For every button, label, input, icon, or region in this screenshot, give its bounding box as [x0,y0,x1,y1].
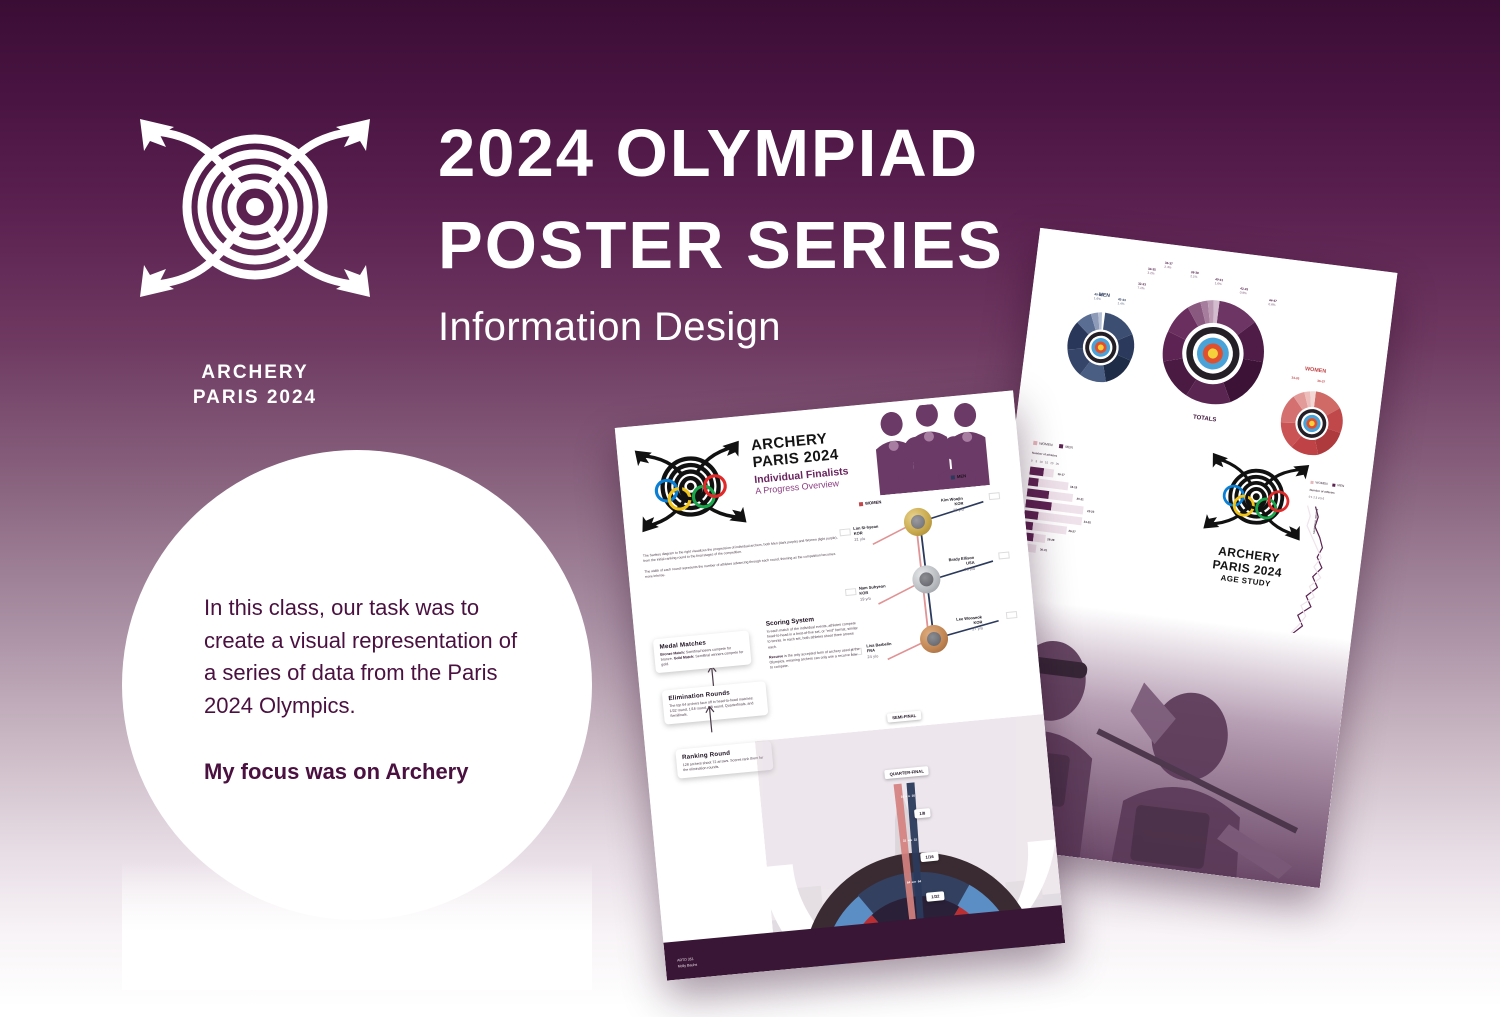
brand-wordmark: ARCHERY PARIS 2024 [130,360,380,410]
callout-medal-matches[interactable]: Medal Matches Bronze Match: Semifinal lo… [653,630,752,673]
donut-totals-leader-1: 36-372.4% [1164,262,1173,271]
donut-totals-leader-6: 34-353.2% [1147,268,1156,277]
round-chip-eighth[interactable]: 1/8 [914,808,931,818]
finalist-lee-wooseok: Lee Wooseok KOR 27 y/o [956,614,983,633]
legend-swatch-men-line [1332,483,1335,486]
podium-athletes-photo [864,397,1011,496]
line-axis-title: Number of athletes [1309,488,1335,495]
finalist-name: Lisa Barbelin [866,641,891,648]
donut-totals-leader-4: 42-430.8% [1239,287,1248,296]
title-line-2: POSTER SERIES [438,200,1004,292]
brand-line-1: ARCHERY [130,360,380,385]
callout-arrows [698,667,728,755]
archery-target-crossed-arrows-icon [130,95,380,325]
poster-finalists-title: ARCHERY PARIS 2024 Individual Finalists … [750,428,850,495]
finalist-lim-si-hyeon: Lim Si-hyeon KOR 21 y/o [853,524,880,542]
scoring-paragraph-2: Recurve is the only accepted form of arc… [769,647,862,671]
bar-axis-title: Number of athletes [1032,451,1058,458]
donut-chart-men [1057,304,1144,391]
finalist-age: 27 y/o [972,625,983,631]
donut-chart-women [1272,383,1352,463]
donut-women-leader-2: 36-37 [1317,380,1325,385]
finalist-kim-woojin: Kim Woojin KOR 38 y/o [941,496,964,514]
finalist-name: Lim Si-hyeon [853,524,878,531]
poster-individual-finalists[interactable]: ARCHERY PARIS 2024 Individual Finalists … [615,390,1065,980]
bar-label-3: 20-21 [1076,497,1084,502]
finalist-age: 21 y/o [854,536,865,542]
finalist-lisa-barbelin: Lisa Barbelin FRA 24 y/o [866,641,893,659]
legend-swatch-men [1059,444,1063,448]
round-chip-semi-final[interactable]: SEMI-FINAL [887,711,922,723]
round-chip-thirtysecond[interactable]: 1/32 [926,891,945,902]
poster-finalists-page: ARCHERY PARIS 2024 Individual Finalists … [615,390,1065,980]
donut-women-leader-1: 34-35 [1291,377,1299,382]
bar-label-7: 28-29 [1047,537,1055,542]
donut-men-leader-label-2: 42-431.4% [1117,298,1126,307]
donut-men-leader-label: 40-411.6% [1094,293,1103,302]
finalist-age: 36 y/o [964,566,975,572]
hero-paragraph-2: My focus was on Archery [204,756,524,789]
title-line-1: 2024 OLYMPIAD [438,108,1004,200]
finalist-brady-ellison: Brady Ellison USA 36 y/o [948,555,975,574]
flag-kor-3 [845,588,857,596]
bar-label-6: 26-27 [1068,529,1076,534]
archery-target-olympic-rings-icon [630,434,752,553]
flag-kor-4 [1006,611,1018,619]
hero-copy: In this class, our task was to create a … [204,592,524,789]
line-chart-legend: WOMEN MEN [1310,480,1344,488]
poster-credits: ARTD 351 Molly Bauhs [677,957,698,970]
legend-men-label: MEN [957,473,967,479]
flag-usa [998,551,1010,559]
bar-label-2: 18-19 [1070,485,1078,490]
legend-swatch-women-line [1310,480,1313,483]
donut-chart-totals [1147,288,1279,420]
finalist-nam-suhyeon: Nam Suhyeon KOR 19 y/o [859,583,887,602]
brand-line-2: PARIS 2024 [130,385,380,410]
finalist-age: 38 y/o [953,506,964,512]
flag-kor-1 [839,528,851,536]
page-title: 2024 OLYMPIAD POSTER SERIES Information … [438,108,1004,350]
title-subtitle: Information Design [438,305,1004,350]
legend-swatch-men [951,475,955,479]
bar-label-5: 24-25 [1084,520,1092,525]
round-chip-sixteenth[interactable]: 1/16 [920,851,939,862]
donut-totals-leader-5: 44-470.6% [1268,299,1277,308]
bar-label-1: 16-17 [1057,472,1065,477]
scoring-system-section: Scoring System In each match of the indi… [766,612,862,671]
bar-label-8: 30-31 [1040,547,1048,552]
bar-chart-age-brackets [1019,465,1160,573]
line-axis-ticks: 0 1 2 3 4 5 6 [1308,495,1324,501]
finalist-age: 19 y/o [860,596,871,602]
flag-kor-2 [989,492,1001,500]
donut-totals-leader-2: 38-392.1% [1190,271,1199,280]
legend-swatch-women [1033,441,1037,445]
donut-women-caption: WOMEN [1290,364,1340,376]
bar-chart-legend: WOMEN MEN [1033,441,1073,450]
donut-totals-leader-3: 40-411.6% [1214,278,1223,287]
finalist-name: Nam Suhyeon [859,583,886,590]
bar-label-4: 22-23 [1087,509,1095,514]
hero-paragraph-1: In this class, our task was to create a … [204,592,524,722]
donut-totals-leader-7: 32-337.1% [1137,283,1146,292]
finalist-age: 24 y/o [867,653,878,659]
